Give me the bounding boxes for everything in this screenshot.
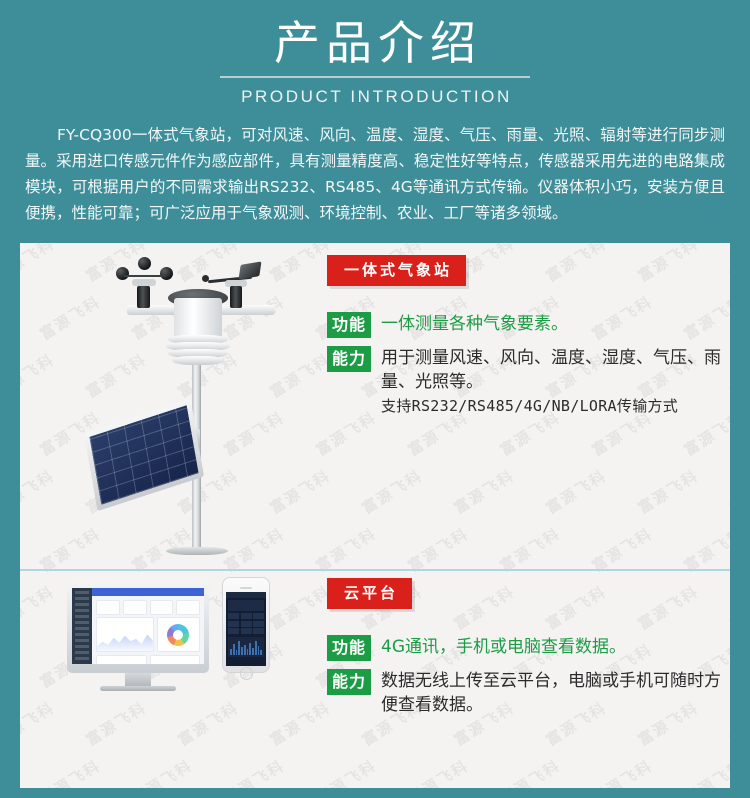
feature-rows-cloud-platform: 功能 4G通讯，手机或电脑查看数据。 能力 数据无线上传至云平台，电脑或手机可随… [327,635,727,717]
section-badge-cloud-platform: 云平台 [327,578,412,609]
dashboard-tables [92,652,204,664]
phone-data-cell [241,628,252,634]
anemometer-arm [146,275,166,277]
dashboard-sidebar [72,588,92,664]
feature-label-function: 功能 [327,312,371,338]
feature-value-function: 4G通讯，手机或电脑查看数据。 [371,635,626,659]
phone-speaker [240,587,252,589]
monitor-stand-neck [125,673,151,686]
stat-card [123,600,147,615]
feature-row-function: 功能 4G通讯，手机或电脑查看数据。 [327,635,727,661]
area-chart-panel [96,617,154,652]
phone-device-card [228,600,264,611]
weather-station-illustration [80,253,310,563]
capability-line-1: 数据无线上传至云平台，电脑或手机可随时方便查看数据。 [381,671,721,715]
anemometer-arm [124,275,146,277]
stat-card [150,600,174,615]
anemometer-cup [138,257,151,270]
phone-home-button[interactable] [240,667,253,680]
title-divider [220,76,530,78]
anemometer-mast [137,286,150,308]
phone-chart [228,637,264,657]
table-panel [150,655,201,664]
monitor-stand-foot [100,686,176,691]
shield-body [174,298,222,340]
wind-vane-fin [238,261,261,279]
phone-data-cell [253,613,264,619]
intro-paragraph-block: FY-CQ300一体式气象站，可对风速、风向、温度、湿度、气压、雨量、光照、辐射… [25,122,725,226]
feature-label-capability: 能力 [327,669,371,695]
cloud-platform-illustration [62,575,302,695]
phone-data-cell [241,621,252,627]
wind-vane-mast [230,286,242,308]
feature-row-capability: 能力 数据无线上传至云平台，电脑或手机可随时方便查看数据。 [327,669,727,717]
stat-card [96,600,120,615]
solar-panel-cells [90,405,199,504]
smartphone [222,577,270,673]
solar-panel-frame [84,399,204,511]
section-weather-station: 一体式气象站 功能 一体测量各种气象要素。 能力 用于测量风速、风向、温度、湿度… [20,243,730,569]
phone-data-grid [228,613,264,634]
table-panel [96,655,147,664]
monitor-screen [72,588,204,664]
phone-data-cell [228,613,239,619]
content-card: 富源飞科富源飞科富源飞科富源飞科富源飞科富源飞科富源飞科富源飞科富源飞科富源飞科… [20,243,730,788]
anemometer-cup [160,267,173,280]
phone-data-cell [241,613,252,619]
page-title: 产品介绍 [0,16,750,70]
desktop-monitor [67,583,209,691]
weather-station-text-column: 一体式气象站 功能 一体测量各种气象要素。 能力 用于测量风速、风向、温度、湿度… [327,255,727,426]
feature-value-capability: 用于测量风速、风向、温度、湿度、气压、雨量、光照等。 支持RS232/RS485… [371,346,727,418]
capability-line-1: 用于测量风速、风向、温度、湿度、气压、雨量、光照等。 [381,348,721,392]
phone-screen [226,592,266,666]
phone-data-cell [228,621,239,627]
monitor-bezel [67,583,209,673]
solar-panel [84,399,204,511]
station-base [166,547,228,555]
cloud-platform-text-column: 云平台 功能 4G通讯，手机或电脑查看数据。 能力 数据无线上传至云平台，电脑或… [327,578,727,725]
section-badge-weather-station: 一体式气象站 [327,255,466,286]
page-subtitle: PRODUCT INTRODUCTION [0,86,750,108]
feature-value-function: 一体测量各种气象要素。 [371,312,568,336]
feature-row-function: 功能 一体测量各种气象要素。 [327,312,727,338]
feature-rows-weather-station: 功能 一体测量各种气象要素。 能力 用于测量风速、风向、温度、湿度、气压、雨量、… [327,312,727,418]
section-cloud-platform: 云平台 功能 4G通讯，手机或电脑查看数据。 能力 数据无线上传至云平台，电脑或… [20,570,730,788]
anemometer-hub [132,279,156,286]
phone-chart-series [230,639,262,655]
donut-chart [167,624,189,646]
shield-plate [172,356,224,365]
capability-line-2: 支持RS232/RS485/4G/NB/LORA传输方式 [381,394,727,418]
phone-data-cell [253,628,264,634]
area-chart-series [97,629,153,651]
dashboard-stat-cards [92,596,204,617]
phone-app-topbar [226,592,266,598]
phone-data-cell [228,628,239,634]
phone-body [222,577,270,673]
dashboard-main [92,588,204,664]
stat-card [176,600,200,615]
feature-label-capability: 能力 [327,346,371,372]
donut-chart-panel [157,617,200,652]
wind-vane-counterweight [202,275,209,282]
dashboard-topbar [92,588,204,596]
feature-label-function: 功能 [327,635,371,661]
phone-data-cell [253,621,264,627]
intro-paragraph: FY-CQ300一体式气象站，可对风速、风向、温度、湿度、气压、雨量、光照、辐射… [25,122,725,226]
anemometer-cup [116,267,129,280]
feature-row-capability: 能力 用于测量风速、风向、温度、湿度、气压、雨量、光照等。 支持RS232/RS… [327,346,727,418]
page-header: 产品介绍 PRODUCT INTRODUCTION [0,0,750,108]
dashboard-chart-panels [92,617,204,652]
feature-value-capability: 数据无线上传至云平台，电脑或手机可随时方便查看数据。 [371,669,727,717]
shield-plates [166,335,230,365]
